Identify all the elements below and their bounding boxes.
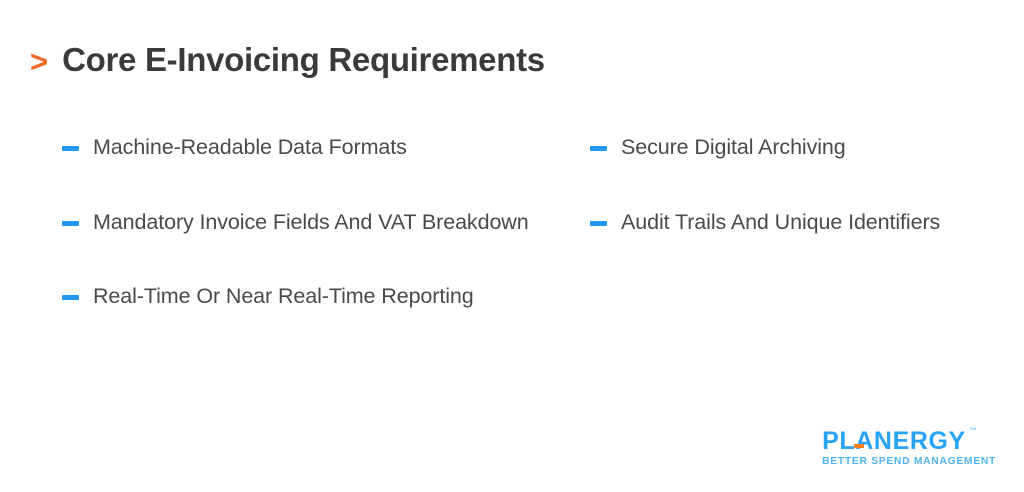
requirements-column-left: Machine-Readable Data Formats Mandatory …	[0, 132, 560, 356]
page-title-label: Core E-Invoicing Requirements	[62, 42, 545, 78]
dash-bullet-icon	[590, 221, 607, 226]
requirements-columns: Machine-Readable Data Formats Mandatory …	[0, 132, 1024, 356]
dash-bullet-icon	[62, 221, 79, 226]
chevron-right-icon: >	[30, 46, 48, 77]
list-item: Machine-Readable Data Formats	[62, 132, 536, 163]
list-item-label: Machine-Readable Data Formats	[93, 132, 407, 163]
page-title: > Core E-Invoicing Requirements	[30, 42, 545, 78]
list-item-label: Mandatory Invoice Fields And VAT Breakdo…	[93, 207, 529, 238]
list-item-label: Secure Digital Archiving	[621, 132, 846, 163]
list-item-label: Audit Trails And Unique Identifiers	[621, 207, 940, 238]
list-item: Real-Time Or Near Real-Time Reporting	[62, 281, 536, 312]
list-item-label: Real-Time Or Near Real-Time Reporting	[93, 281, 474, 312]
dash-bullet-icon	[62, 146, 79, 151]
list-item: Audit Trails And Unique Identifiers	[590, 207, 994, 238]
logo-tagline: BETTER SPEND MANAGEMENT	[822, 457, 996, 467]
list-item: Secure Digital Archiving	[590, 132, 994, 163]
requirements-column-right: Secure Digital Archiving Audit Trails An…	[560, 132, 1024, 356]
dash-bullet-icon	[62, 295, 79, 300]
logo-accent-bar-icon	[854, 444, 864, 448]
list-item: Mandatory Invoice Fields And VAT Breakdo…	[62, 207, 536, 238]
logo-wordmark-text: PLANERGY	[822, 427, 966, 455]
dash-bullet-icon	[590, 146, 607, 151]
logo-wordmark-wrapper: PLANERGY ™	[822, 429, 966, 454]
planergy-logo: PLANERGY ™ BETTER SPEND MANAGEMENT	[822, 429, 996, 467]
slide-canvas: > Core E-Invoicing Requirements Machine-…	[0, 0, 1024, 492]
trademark-icon: ™	[969, 427, 977, 435]
